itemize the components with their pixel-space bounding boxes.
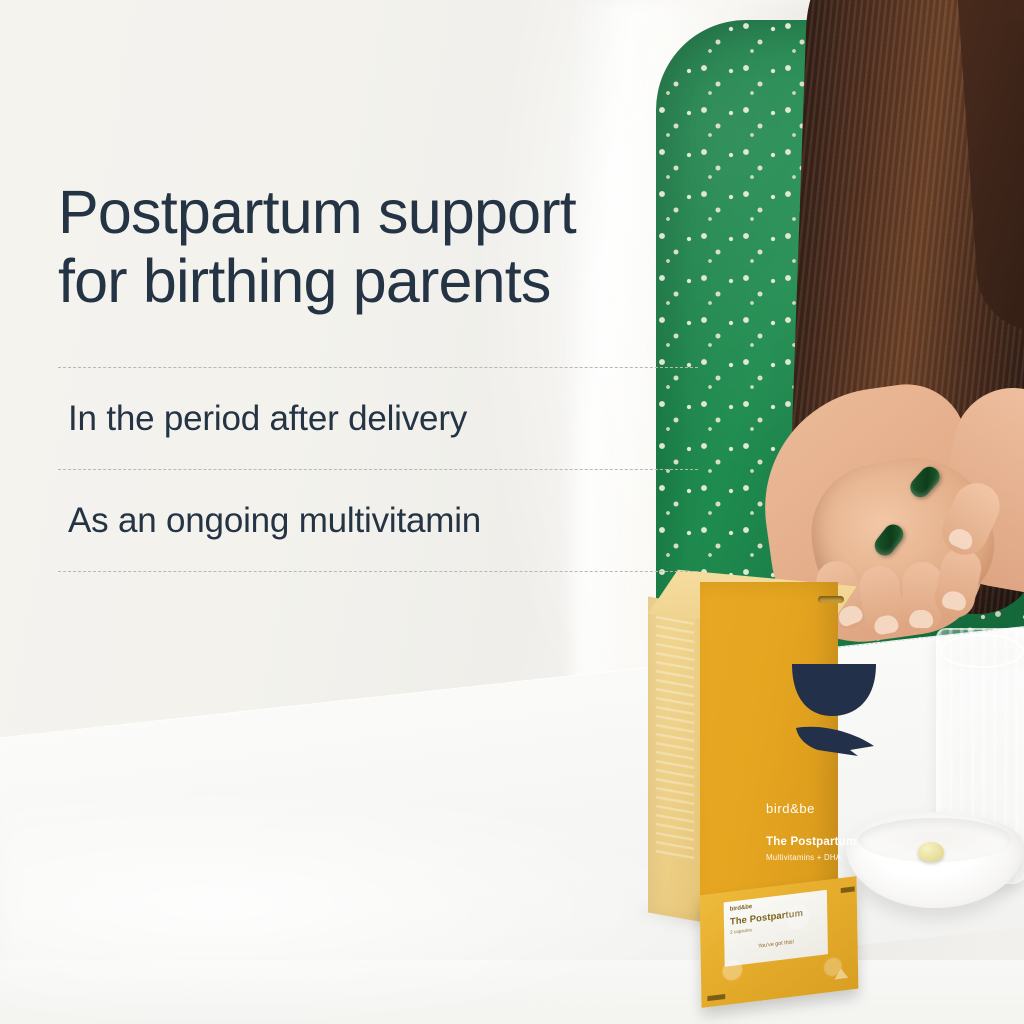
sachet-subtitle: 2 capsules: [730, 919, 821, 935]
sachet-tear-tab-left: [707, 994, 725, 1001]
box-product-name: The Postpartum: [766, 836, 896, 848]
table-highlight: [0, 780, 717, 1024]
product-sachet: bird&be The Postpartum 2 capsules You've…: [700, 876, 859, 1008]
glass-rim: [940, 634, 1024, 668]
box-product-subtitle: Multivitamins + DHA: [766, 853, 896, 862]
divider-bottom: [58, 571, 698, 572]
box-brand: bird&be: [766, 801, 896, 816]
yellow-softgel: [918, 842, 944, 862]
copy-block: Postpartum support for birthing parents …: [58, 178, 698, 572]
box-side-panel: [648, 596, 702, 922]
benefit-item-1: In the period after delivery: [58, 368, 698, 469]
box-dispenser-slot: [818, 596, 844, 603]
bird-logo-icon: [788, 654, 880, 756]
sachet-notch-icon: [834, 968, 848, 980]
sachet-label: bird&be The Postpartum 2 capsules You've…: [724, 890, 828, 967]
box-label-text: bird&be The Postpartum Multivitamins + D…: [766, 801, 896, 862]
sachet-product-name: The Postpartum: [730, 906, 822, 928]
product-box: bird&be The Postpartum Multivitamins + D…: [648, 560, 838, 920]
box-front-panel: bird&be The Postpartum Multivitamins + D…: [700, 582, 838, 920]
page-title: Postpartum support for birthing parents: [58, 178, 698, 316]
sachet-tear-tab-right: [841, 886, 855, 893]
box-side-text-lines: [656, 616, 694, 863]
sachet-tagline: You've got this!: [730, 936, 821, 953]
promotional-image: bird&be The Postpartum Multivitamins + D…: [0, 0, 1024, 1024]
benefit-item-2: As an ongoing multivitamin: [58, 470, 698, 571]
sachet-brand: bird&be: [730, 896, 821, 913]
